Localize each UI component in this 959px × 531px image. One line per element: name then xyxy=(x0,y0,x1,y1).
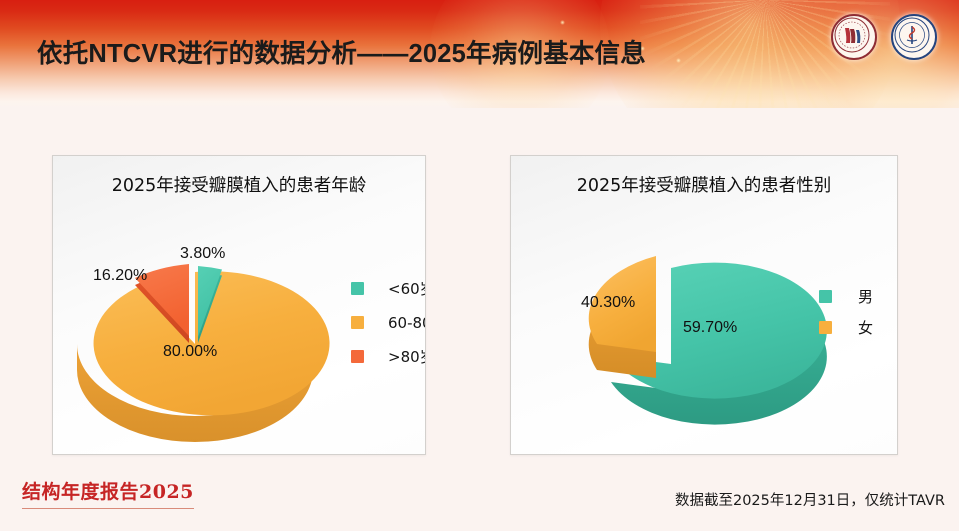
page-header: 依托NTCVR进行的数据分析——2025年病例基本信息 xyxy=(0,0,959,108)
legend-item-under-60[interactable]: <60岁 xyxy=(351,278,426,299)
pie-label-under-60: 3.80% xyxy=(180,245,225,263)
legend-item-female[interactable]: 女 xyxy=(819,317,873,338)
pie-label-male: 59.70% xyxy=(683,319,737,337)
legend-label-60-80: 60-80岁 xyxy=(388,312,426,333)
legend-label-female: 女 xyxy=(858,317,873,338)
legend-gender: 男 女 xyxy=(819,286,873,338)
legend-item-over-80[interactable]: >80岁 xyxy=(351,346,426,367)
legend-swatch-icon xyxy=(819,290,832,303)
spark-icon xyxy=(676,58,681,63)
pie-label-over-80: 16.20% xyxy=(93,267,147,285)
legend-label-under-60: <60岁 xyxy=(388,278,426,299)
legend-swatch-icon xyxy=(351,350,364,363)
pie-label-60-80: 80.00% xyxy=(163,343,217,361)
legend-swatch-icon xyxy=(351,316,364,329)
legend-swatch-icon xyxy=(819,321,832,334)
page-title: 依托NTCVR进行的数据分析——2025年病例基本信息 xyxy=(37,33,646,70)
report-brand: 结构年度报告2025 xyxy=(22,477,194,509)
institution-logo-red xyxy=(831,14,877,60)
legend-swatch-icon xyxy=(351,282,364,295)
chart-card-gender: 2025年接受瓣膜植入的患者性别 xyxy=(510,155,898,455)
legend-age: <60岁 60-80岁 >80岁 xyxy=(351,278,426,367)
spark-icon xyxy=(560,20,565,25)
legend-label-male: 男 xyxy=(858,286,873,307)
legend-label-over-80: >80岁 xyxy=(388,346,426,367)
chart-card-age: 2025年接受瓣膜植入的患者年龄 xyxy=(52,155,426,455)
legend-item-60-80[interactable]: 60-80岁 xyxy=(351,312,426,333)
logo-group xyxy=(831,14,937,60)
legend-item-male[interactable]: 男 xyxy=(819,286,873,307)
institution-logo-blue xyxy=(891,14,937,60)
pie-label-female: 40.30% xyxy=(581,294,635,312)
data-cutoff-note: 数据截至2025年12月31日，仅统计TAVR xyxy=(675,489,945,510)
